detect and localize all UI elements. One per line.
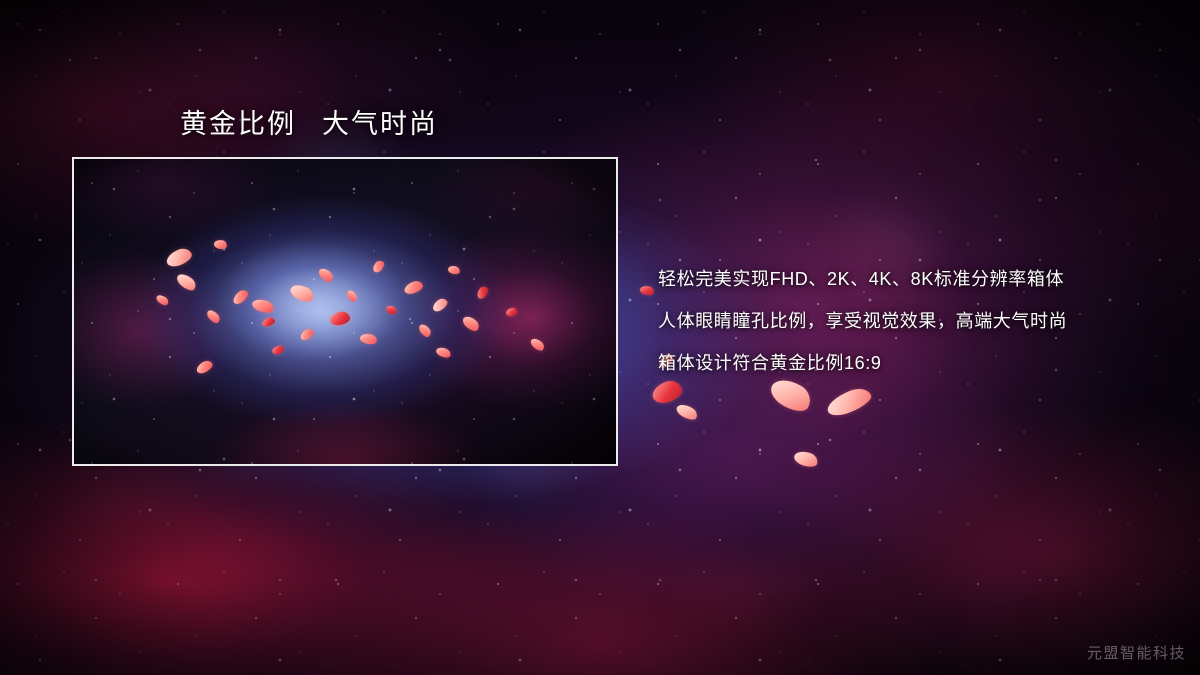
watermark: 元盟智能科技 [1087, 642, 1186, 663]
rose-petal [824, 384, 874, 420]
title-part-1: 黄金比例 [180, 109, 296, 139]
frame-image-inner [74, 159, 616, 464]
frame-vignette [74, 159, 616, 464]
body-text-block: 轻松完美实现FHD、2K、4K、8K标准分辨率箱体 人体眼睛瞳孔比例，享受视觉效… [658, 258, 1178, 384]
rose-petal [792, 449, 819, 470]
rose-petal [639, 285, 655, 297]
body-line-2: 人体眼睛瞳孔比例，享受视觉效果，高端大气时尚 [658, 300, 1178, 342]
body-line-1: 轻松完美实现FHD、2K、4K、8K标准分辨率箱体 [658, 258, 1178, 300]
rose-petal [674, 402, 699, 423]
body-line-3: 箱体设计符合黄金比例16:9 [658, 342, 1178, 384]
title-part-2: 大气时尚 [322, 109, 438, 139]
presentation-slide: 黄金比例大气时尚 轻松完美实现FHD、2K、4K、8K标准分辨率箱体 人体眼睛瞳… [0, 0, 1200, 675]
nebula-photo-frame [72, 157, 618, 466]
page-title: 黄金比例大气时尚 [180, 102, 438, 141]
